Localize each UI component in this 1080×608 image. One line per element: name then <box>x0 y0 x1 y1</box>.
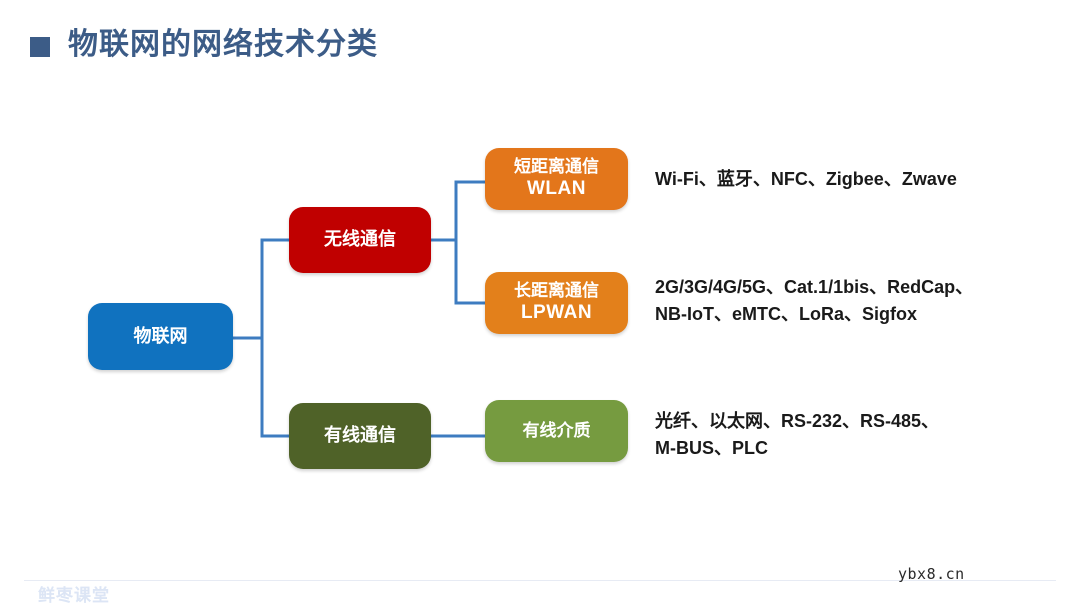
detail-lpwan-technologies: 2G/3G/4G/5G、Cat.1/1bis、RedCap、 NB-IoT、eM… <box>655 274 973 328</box>
node-wlan[interactable]: 短距离通信 WLAN <box>485 148 628 210</box>
node-wired[interactable]: 有线通信 <box>289 403 431 469</box>
node-root[interactable]: 物联网 <box>88 303 233 370</box>
detail-wired-media-technologies: 光纤、以太网、RS-232、RS-485、 M-BUS、PLC <box>655 408 939 462</box>
detail-wlan-technologies: Wi-Fi、蓝牙、NFC、Zigbee、Zwave <box>655 166 957 193</box>
slide-canvas: 物联网的网络技术分类 物联网 无线通信 <box>0 0 1080 608</box>
node-wireless-label: 无线通信 <box>324 229 396 251</box>
node-wlan-label-cn: 短距离通信 <box>514 157 599 177</box>
node-root-label: 物联网 <box>134 326 188 348</box>
title-text: 物联网的网络技术分类 <box>68 28 378 61</box>
node-wired-media-label: 有线介质 <box>523 421 591 441</box>
title-bullet-icon <box>30 37 50 57</box>
site-watermark: ybx8.cn <box>898 565 965 583</box>
node-wireless[interactable]: 无线通信 <box>289 207 431 273</box>
node-lpwan[interactable]: 长距离通信 LPWAN <box>485 272 628 334</box>
node-wlan-label-en: WLAN <box>527 178 586 201</box>
node-wired-label: 有线通信 <box>324 425 396 447</box>
node-lpwan-label-cn: 长距离通信 <box>514 281 599 301</box>
node-lpwan-label-en: LPWAN <box>521 302 592 325</box>
page-title: 物联网的网络技术分类 <box>30 28 378 61</box>
node-wired-media[interactable]: 有线介质 <box>485 400 628 462</box>
footer-brand-watermark: 鲜枣课堂 <box>38 581 110 606</box>
